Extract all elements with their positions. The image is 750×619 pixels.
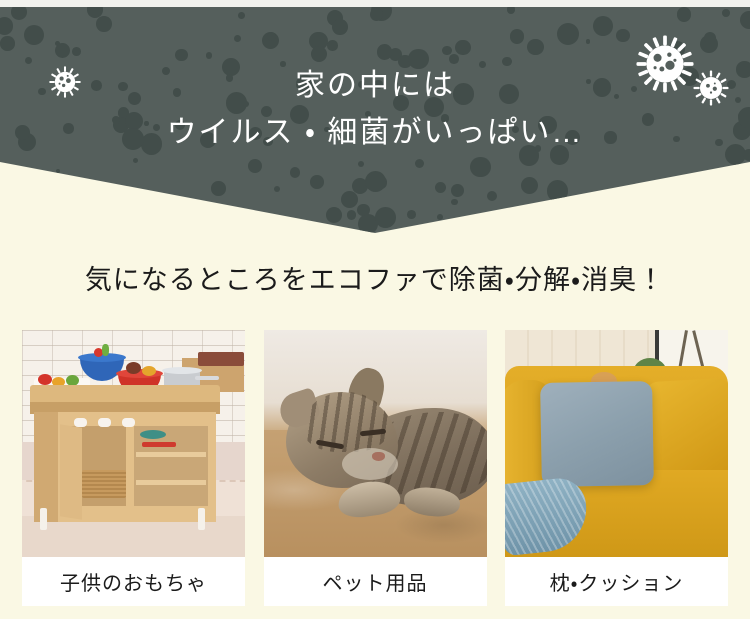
hero-headline-line-2: ウイルス ・ 細菌がいっぱい… xyxy=(0,109,750,156)
background-dot xyxy=(741,193,750,204)
background-dot xyxy=(732,191,737,196)
background-dot xyxy=(11,7,27,20)
background-dot xyxy=(326,207,342,223)
background-dot xyxy=(29,180,39,190)
background-dot xyxy=(487,191,497,201)
background-dot xyxy=(740,11,750,29)
background-dot xyxy=(616,29,630,43)
background-dot xyxy=(72,47,81,56)
category-card-caption: 子供のおもちゃ xyxy=(22,557,245,606)
background-dot xyxy=(704,32,716,44)
hero-headline-line-1: 家の中には xyxy=(0,62,750,109)
background-dot xyxy=(375,207,396,228)
background-dot xyxy=(442,46,451,55)
background-dot xyxy=(722,9,730,17)
background-dot xyxy=(377,44,392,59)
background-dot xyxy=(507,7,515,14)
background-dot xyxy=(347,210,357,220)
background-dot xyxy=(133,158,138,163)
background-dot xyxy=(365,171,386,192)
subtitle-text: 気になるところをエコファで除菌・分解・消臭！ xyxy=(0,258,750,297)
background-dot xyxy=(451,199,458,206)
background-dot xyxy=(593,16,613,36)
background-dot xyxy=(233,210,242,219)
background-dot xyxy=(437,214,443,220)
background-dot xyxy=(238,12,245,19)
background-dot xyxy=(510,29,525,44)
hero-headline: 家の中には ウイルス ・ 細菌がいっぱい… xyxy=(0,62,750,156)
background-dot xyxy=(0,17,13,34)
category-card-caption: ペット用品 xyxy=(264,557,487,606)
sleeping-kitten-photo xyxy=(264,330,487,557)
background-dot xyxy=(211,181,226,196)
background-dot xyxy=(527,39,544,56)
background-dot xyxy=(310,175,324,189)
background-dot xyxy=(332,19,348,35)
background-dot xyxy=(206,52,213,59)
background-dot xyxy=(451,184,464,197)
background-dot xyxy=(695,175,705,185)
background-dot xyxy=(357,204,369,216)
background-dot xyxy=(415,159,424,168)
background-dot xyxy=(0,36,14,50)
background-dot xyxy=(248,159,262,173)
background-dot xyxy=(706,183,722,199)
category-card-toys[interactable]: 子供のおもちゃ xyxy=(22,330,245,606)
background-dot xyxy=(435,182,446,193)
wooden-toy-kitchen-photo xyxy=(22,330,245,557)
background-dot xyxy=(327,40,337,50)
background-dot xyxy=(683,214,690,221)
background-dot xyxy=(558,228,569,234)
background-dot xyxy=(677,220,684,227)
background-dot xyxy=(574,221,582,229)
background-dot xyxy=(470,157,490,177)
hero-banner: 家の中には ウイルス ・ 細菌がいっぱい… xyxy=(0,7,750,234)
background-dot xyxy=(659,209,667,217)
category-card-pet-supplies[interactable]: ペット用品 xyxy=(264,330,487,606)
background-dot xyxy=(341,191,358,208)
background-dot xyxy=(99,210,113,224)
background-dot xyxy=(24,25,44,45)
background-dot xyxy=(370,8,383,21)
background-dot xyxy=(311,46,327,62)
background-dot xyxy=(290,167,300,177)
background-dot xyxy=(175,49,187,61)
background-dot xyxy=(261,217,283,234)
background-dot xyxy=(706,212,715,221)
category-card-pillows-cushions[interactable]: 枕・クッション xyxy=(505,330,728,606)
background-dot xyxy=(677,7,691,21)
background-dot xyxy=(96,16,112,32)
sofa-cushions-photo xyxy=(505,330,728,557)
top-strip xyxy=(0,0,750,7)
background-dot xyxy=(455,40,471,56)
background-dot xyxy=(274,186,280,192)
background-dot xyxy=(234,35,241,42)
background-dot xyxy=(586,39,591,44)
category-card-row: 子供のおもちゃ ペット用品 xyxy=(22,330,728,606)
background-dot xyxy=(407,210,416,219)
promo-page: 家の中には ウイルス ・ 細菌がいっぱい… 気になるところをエコファで除菌・分解… xyxy=(0,0,750,619)
background-dot xyxy=(358,161,364,167)
category-card-caption: 枕・クッション xyxy=(505,557,728,606)
background-dot xyxy=(521,177,539,195)
background-dot xyxy=(138,205,150,217)
background-dot xyxy=(557,23,579,45)
background-dot xyxy=(266,217,284,234)
background-dot xyxy=(547,180,569,202)
background-dot xyxy=(56,169,60,173)
